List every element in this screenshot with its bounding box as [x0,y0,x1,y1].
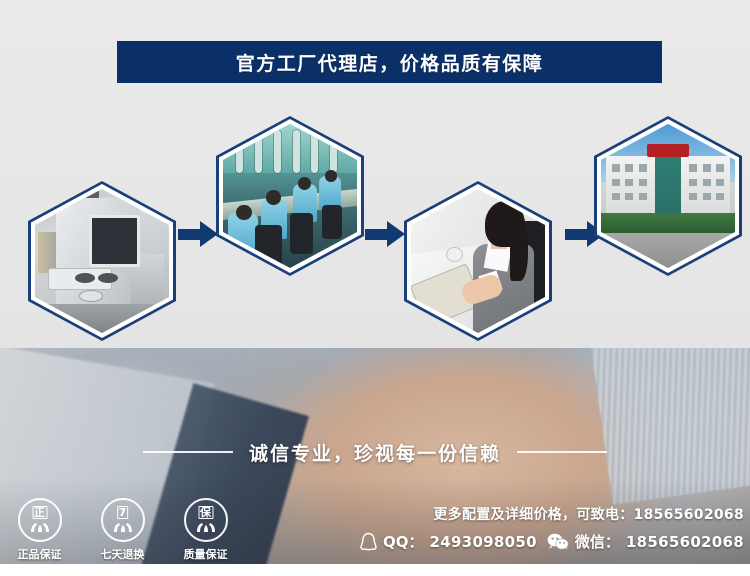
process-section: 官方工厂代理店，价格品质有保障 [0,0,750,348]
hands-icon [112,522,134,533]
wechat-number: 18565602068 [626,533,744,551]
tagline-text: 诚信专业，珍视每一份信赖 [249,439,501,466]
contact-im-line: QQ： 2493098050 微信： 18565602068 [360,531,744,552]
badge-glyph: 7 [117,506,129,519]
hands-icon [29,522,51,533]
banner-title: 官方工厂代理店，价格品质有保障 [236,49,544,76]
badge-glyph: 保 [198,506,213,519]
tagline-row: 诚信专业，珍视每一份信赖 [0,434,750,470]
badge-label: 质量保证 [184,546,228,562]
process-step-factory-line [216,116,364,276]
contact-block: 更多配置及详细价格，可致电：18565602068 QQ： 2493098050 [360,504,744,552]
promo-page: 官方工厂代理店，价格品质有保障 [0,0,750,576]
process-step-laser-machine [28,181,176,341]
arrow-right-icon [178,221,218,247]
header-banner: 官方工厂代理店，价格品质有保障 [117,41,662,83]
badge-glyph: 正 [32,506,47,519]
arrow-right-icon [365,221,405,247]
tagline-rule-right [517,451,607,453]
bottom-white-strip [0,564,750,576]
trust-badge: 保 质量保证 [174,498,237,562]
trust-badge: 正 正品保证 [8,498,71,562]
process-step-company-building [594,116,742,276]
hands-seven-icon: 7 [101,498,145,542]
hands-icon [195,522,217,533]
badge-label: 正品保证 [18,546,62,562]
qq-label: QQ： [383,531,424,552]
trust-badges: 正 正品保证 7 七 [8,498,237,562]
badge-label: 七天退换 [101,546,145,562]
tagline-rule-left [143,451,233,453]
qq-penguin-icon [360,532,377,551]
qq-number: 2493098050 [430,533,537,551]
contact-phone-line: 更多配置及详细价格，可致电：18565602068 [360,504,744,524]
trust-section: 诚信专业，珍视每一份信赖 正 正品保证 7 [0,348,750,564]
wechat-label: 微信： [575,531,620,552]
trust-badge: 7 七天退换 [91,498,154,562]
hands-shield-icon: 正 [18,498,62,542]
process-step-customer-service [404,181,552,341]
wechat-icon [547,533,569,550]
hands-quality-icon: 保 [184,498,228,542]
